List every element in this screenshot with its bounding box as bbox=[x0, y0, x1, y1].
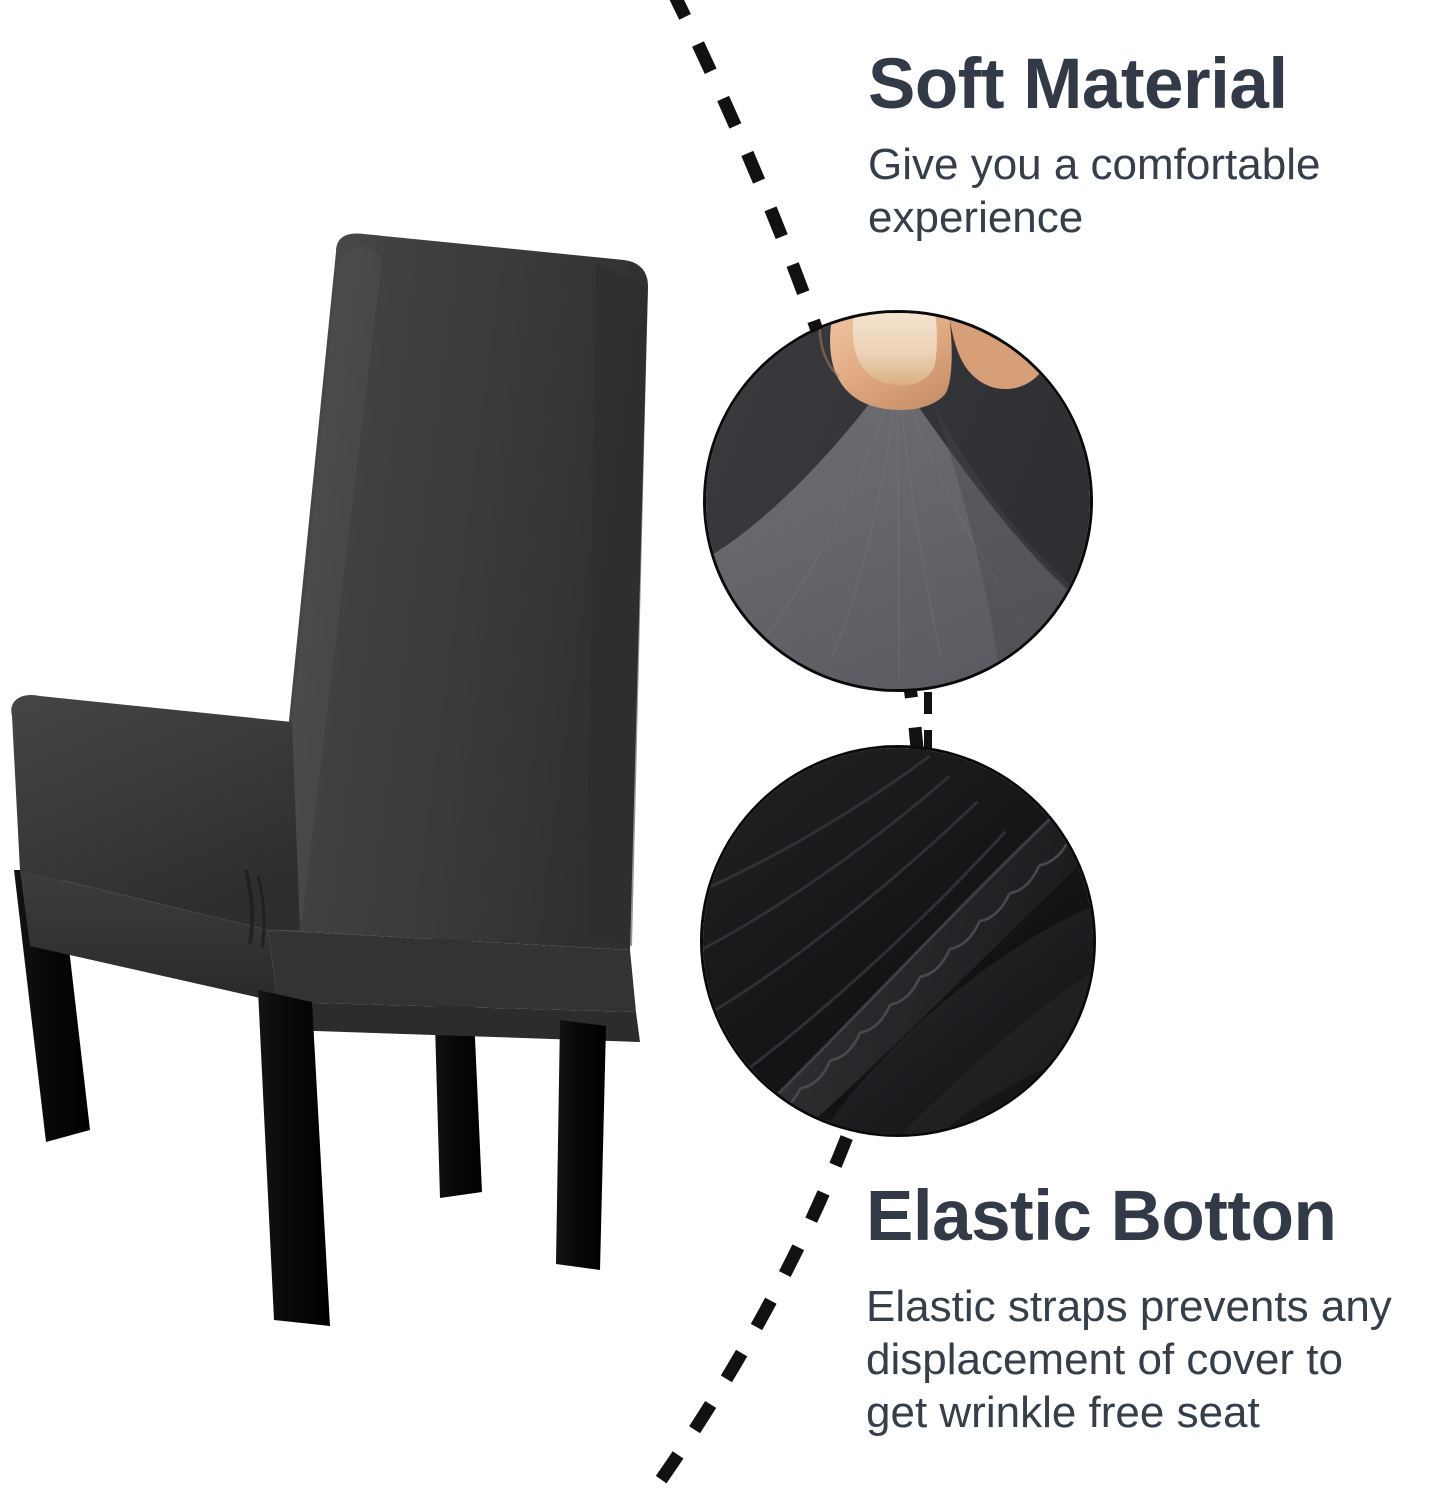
callout-elastic-bottom bbox=[700, 745, 1096, 1137]
feature-block-soft-material: Soft Material Give you a comfortable exp… bbox=[868, 46, 1428, 244]
feature-description-line: get wrinkle free seat bbox=[866, 1388, 1260, 1437]
feature-description-line: displacement of cover to bbox=[866, 1335, 1343, 1384]
feature-description-line: Give you a comfortable bbox=[868, 140, 1320, 189]
chair-leg-front-right bbox=[556, 1020, 606, 1270]
infographic-canvas: Soft Material Give you a comfortable exp… bbox=[0, 0, 1445, 1500]
feature-description-line: Elastic straps prevents any bbox=[866, 1282, 1392, 1331]
chair-back-panel bbox=[268, 234, 648, 950]
feature-description-elastic-bottom: Elastic straps prevents any displacement… bbox=[866, 1280, 1441, 1439]
feature-title-soft-material: Soft Material bbox=[868, 46, 1428, 124]
feature-title-elastic-bottom: Elastic Botton bbox=[866, 1178, 1441, 1256]
product-photo-chair bbox=[0, 230, 660, 1360]
feature-block-elastic-bottom: Elastic Botton Elastic straps prevents a… bbox=[866, 1178, 1441, 1439]
feature-description-line: experience bbox=[868, 193, 1083, 242]
callout-soft-material bbox=[703, 310, 1093, 692]
feature-description-soft-material: Give you a comfortable experience bbox=[868, 138, 1428, 244]
dashed-connector bbox=[920, 690, 936, 752]
chair-leg-front-left bbox=[258, 990, 330, 1326]
